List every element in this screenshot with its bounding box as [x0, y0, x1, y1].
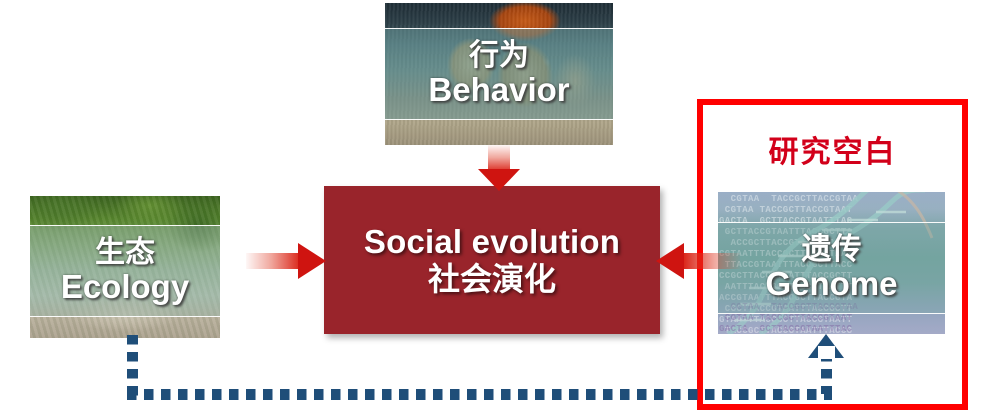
dotted-path-segment-horizontal: [127, 389, 832, 400]
behavior-label-band: 行为 Behavior: [385, 28, 613, 120]
arrow-genome-to-center: [656, 243, 740, 279]
behavior-label-cn: 行为: [469, 39, 529, 73]
arrow-head-up-notch: [818, 346, 835, 359]
arrow-shaft: [682, 253, 740, 269]
arrow-ecology-to-center: [246, 243, 326, 279]
center-label-cn: 社会演化: [428, 261, 556, 297]
research-gap-label: 研究空白: [697, 127, 968, 171]
ecology-label-band: 生态 Ecology: [30, 225, 220, 317]
node-social-evolution[interactable]: Social evolution 社会演化: [324, 186, 660, 334]
diagram-canvas: 行为 Behavior 生态 Ecology CGTAA TACCGCTTACC…: [0, 0, 1004, 420]
arrow-behavior-to-center: [478, 145, 520, 191]
node-behavior[interactable]: 行为 Behavior: [385, 3, 613, 145]
arrow-head-right-icon: [298, 243, 326, 279]
behavior-label-en: Behavior: [428, 72, 569, 109]
center-label-en: Social evolution: [364, 223, 620, 261]
arrow-head-left-icon: [656, 243, 684, 279]
ecology-label-cn: 生态: [95, 236, 155, 270]
arrow-head-down-icon: [478, 169, 520, 191]
arrow-shaft: [246, 253, 302, 269]
node-ecology[interactable]: 生态 Ecology: [30, 196, 220, 338]
ecology-label-en: Ecology: [61, 269, 189, 306]
